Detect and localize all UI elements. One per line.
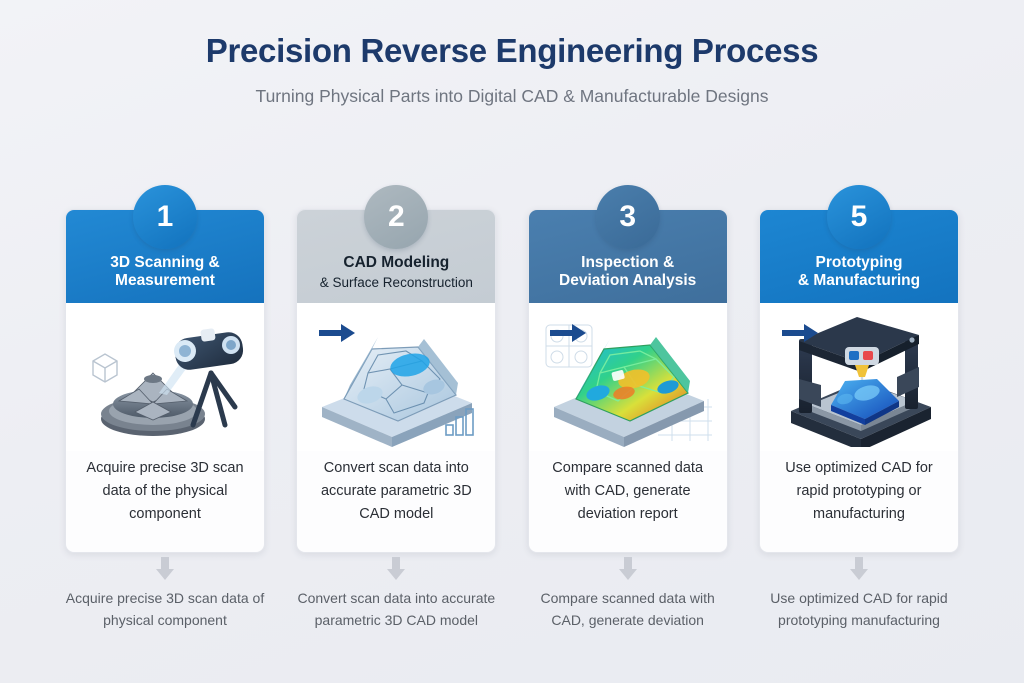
step-connector-arrow-3	[782, 322, 820, 344]
page-title: Precision Reverse Engineering Process	[0, 32, 1024, 70]
step-body-text-3: Compare scanned data with CAD, generate …	[529, 451, 727, 552]
page-subtitle: Turning Physical Parts into Digital CAD …	[0, 86, 1024, 107]
step-card-4[interactable]: Prototyping & Manufacturing	[759, 209, 959, 553]
step-title-line2: & Manufacturing	[798, 272, 920, 291]
step-caption-2: Convert scan data into accurate parametr…	[296, 557, 496, 632]
step-number-badge-2: 2	[364, 185, 428, 249]
step-caption-1: Acquire precise 3D scan data of physical…	[65, 557, 265, 632]
step-number-badge-3: 3	[596, 185, 660, 249]
step-caption-text-2: Convert scan data into accurate parametr…	[296, 588, 496, 632]
step-connector-arrow-1	[319, 322, 357, 344]
step-title-line1: Prototyping	[816, 254, 903, 273]
down-arrow-icon	[65, 557, 265, 583]
down-arrow-icon	[296, 557, 496, 583]
step-caption-text-1: Acquire precise 3D scan data of physical…	[65, 588, 265, 632]
step-title-line1: CAD Modeling	[343, 254, 449, 273]
step-caption-4: Use optimized CAD for rapid prototyping …	[759, 557, 959, 632]
process-step-1[interactable]: 1 3D Scanning & Measurement	[65, 185, 265, 553]
step-card-2[interactable]: CAD Modeling & Surface Reconstruction	[296, 209, 496, 553]
step-card-3[interactable]: Inspection & Deviation Analysis	[528, 209, 728, 553]
down-arrow-icon	[528, 557, 728, 583]
step-title-line2: Measurement	[115, 272, 215, 291]
step-connector-arrow-2	[550, 322, 588, 344]
step-caption-3: Compare scanned data with CAD, generate …	[528, 557, 728, 632]
step-number-badge-1: 1	[133, 185, 197, 249]
step-captions-row: Acquire precise 3D scan data of physical…	[65, 557, 959, 632]
step-title-line2: Deviation Analysis	[559, 272, 696, 291]
step-title-line1: Inspection &	[581, 254, 674, 273]
step-caption-text-3: Compare scanned data with CAD, generate …	[528, 588, 728, 632]
step-card-1[interactable]: 3D Scanning & Measurement	[65, 209, 265, 553]
down-arrow-icon	[759, 557, 959, 583]
page-header: Precision Reverse Engineering Process Tu…	[0, 0, 1024, 107]
process-steps-row: 1 3D Scanning & Measurement	[65, 185, 959, 555]
step-subtitle: & Surface Reconstruction	[320, 275, 473, 291]
3d-scanner-tripod-icon	[66, 303, 264, 451]
step-body-text-2: Convert scan data into accurate parametr…	[297, 451, 495, 552]
process-step-2[interactable]: 2 CAD Modeling & Surface Reconstruction	[296, 185, 496, 553]
step-number-badge-4: 5	[827, 185, 891, 249]
step-title-line1: 3D Scanning &	[110, 254, 219, 273]
step-body-text-4: Use optimized CAD for rapid prototyping …	[760, 451, 958, 552]
step-caption-text-4: Use optimized CAD for rapid prototyping …	[759, 588, 959, 632]
step-body-text-1: Acquire precise 3D scan data of the phys…	[66, 451, 264, 552]
process-step-3[interactable]: 3 Inspection & Deviation Analysis	[528, 185, 728, 553]
process-step-4[interactable]: 5 Prototyping & Manufacturing	[759, 185, 959, 553]
